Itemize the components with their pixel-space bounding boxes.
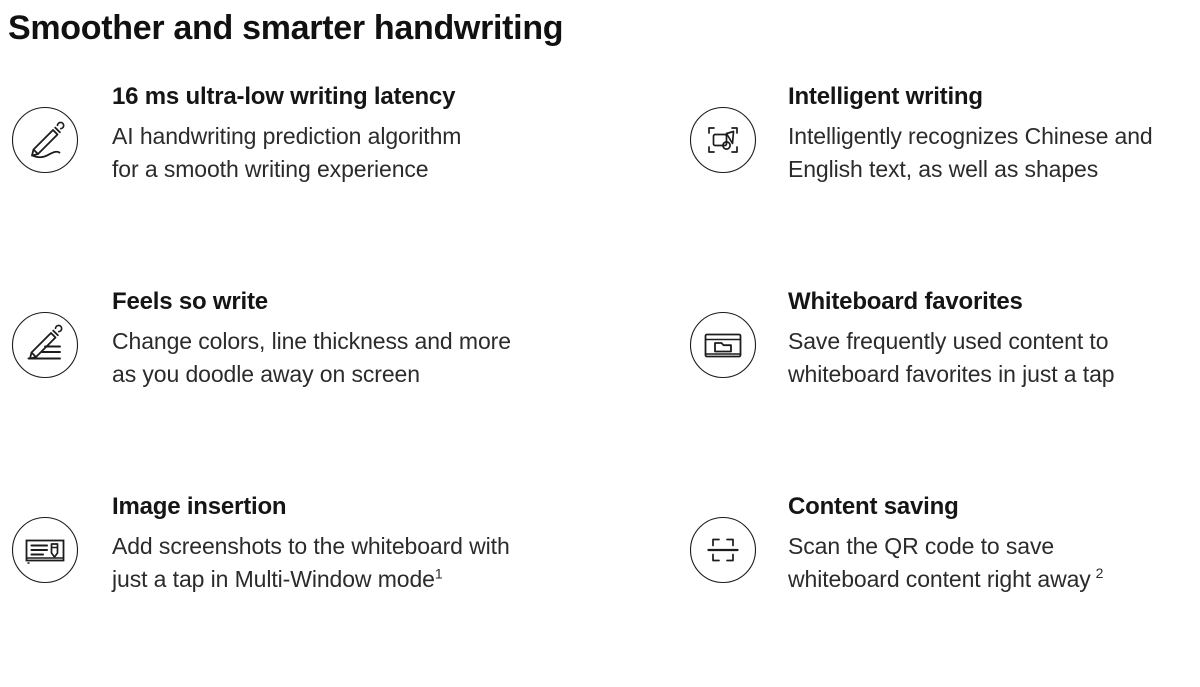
feature-text-container: 16 ms ultra-low writing latency AI handw… — [80, 72, 674, 186]
feature-description-text: for a smooth writing experience — [112, 156, 429, 182]
feature-title: Whiteboard favorites — [788, 285, 1200, 319]
feature-text-container: Whiteboard favorites Save frequently use… — [758, 277, 1200, 391]
feature-description-line: as you doodle away on screen — [112, 358, 674, 391]
feature-description-text: as you doodle away on screen — [112, 361, 420, 387]
feature-title: Intelligent writing — [788, 80, 1200, 114]
scan-shapes-icon — [689, 106, 757, 174]
feature-description: Intelligently recognizes Chinese and Eng… — [788, 120, 1200, 186]
feature-icon-container — [688, 515, 758, 585]
feature-description-line: Scan the QR code to save — [788, 530, 1200, 563]
feature-description-text: just a tap in Multi-Window mode — [112, 566, 435, 592]
feature-description-line: AI handwriting prediction algorithm — [112, 120, 674, 153]
feature-description-text: whiteboard content right away — [788, 566, 1091, 592]
pen-lines-icon — [11, 311, 79, 379]
feature-page: Smoother and smarter handwriting 16 ms u… — [0, 0, 1200, 622]
feature-description-text: English text, as well as shapes — [788, 156, 1098, 182]
feature-title: Content saving — [788, 490, 1200, 524]
scan-line-icon — [689, 516, 757, 584]
feature-title: 16 ms ultra-low writing latency — [112, 80, 674, 114]
feature-description-line: Intelligently recognizes Chinese and — [788, 120, 1200, 153]
feature-grid: 16 ms ultra-low writing latency AI handw… — [0, 72, 1200, 687]
feature-description-line: Change colors, line thickness and more — [112, 325, 674, 358]
feature-description-line: Save frequently used content to — [788, 325, 1200, 358]
feature-description: AI handwriting prediction algorithm for … — [112, 120, 674, 186]
board-pen-icon — [11, 516, 79, 584]
feature-item-writing-latency: 16 ms ultra-low writing latency AI handw… — [0, 72, 674, 277]
feature-description-line: whiteboard favorites in just a tap — [788, 358, 1200, 391]
feature-description: Add screenshots to the whiteboard with j… — [112, 530, 674, 596]
feature-item-content-saving: Content saving Scan the QR code to save … — [674, 482, 1200, 687]
pen-stroke-icon — [11, 106, 79, 174]
feature-icon-container — [688, 310, 758, 380]
feature-text-container: Intelligent writing Intelligently recogn… — [758, 72, 1200, 186]
feature-description: Save frequently used content to whiteboa… — [788, 325, 1200, 391]
feature-description: Scan the QR code to save whiteboard cont… — [788, 530, 1200, 596]
feature-description: Change colors, line thickness and more a… — [112, 325, 674, 391]
feature-item-intelligent-writing: Intelligent writing Intelligently recogn… — [674, 72, 1200, 277]
footnote-marker: 2 — [1096, 565, 1104, 581]
feature-description-line: whiteboard content right away2 — [788, 563, 1200, 596]
feature-description-line: English text, as well as shapes — [788, 153, 1200, 186]
feature-description-line: for a smooth writing experience — [112, 153, 674, 186]
feature-icon-container — [10, 105, 80, 175]
feature-item-feels-so-write: Feels so write Change colors, line thick… — [0, 277, 674, 482]
feature-text-container: Feels so write Change colors, line thick… — [80, 277, 674, 391]
feature-item-whiteboard-favorites: Whiteboard favorites Save frequently use… — [674, 277, 1200, 482]
feature-text-container: Image insertion Add screenshots to the w… — [80, 482, 674, 596]
footnote-marker: 1 — [435, 565, 443, 581]
feature-icon-container — [10, 310, 80, 380]
feature-title: Feels so write — [112, 285, 674, 319]
window-folder-icon — [689, 311, 757, 379]
feature-description-text: whiteboard favorites in just a tap — [788, 361, 1114, 387]
feature-title: Image insertion — [112, 490, 674, 524]
page-title: Smoother and smarter handwriting — [8, 4, 563, 52]
feature-description-line: just a tap in Multi-Window mode1 — [112, 563, 674, 596]
feature-text-container: Content saving Scan the QR code to save … — [758, 482, 1200, 596]
feature-description-line: Add screenshots to the whiteboard with — [112, 530, 674, 563]
feature-item-image-insertion: Image insertion Add screenshots to the w… — [0, 482, 674, 687]
feature-icon-container — [688, 105, 758, 175]
feature-icon-container — [10, 515, 80, 585]
